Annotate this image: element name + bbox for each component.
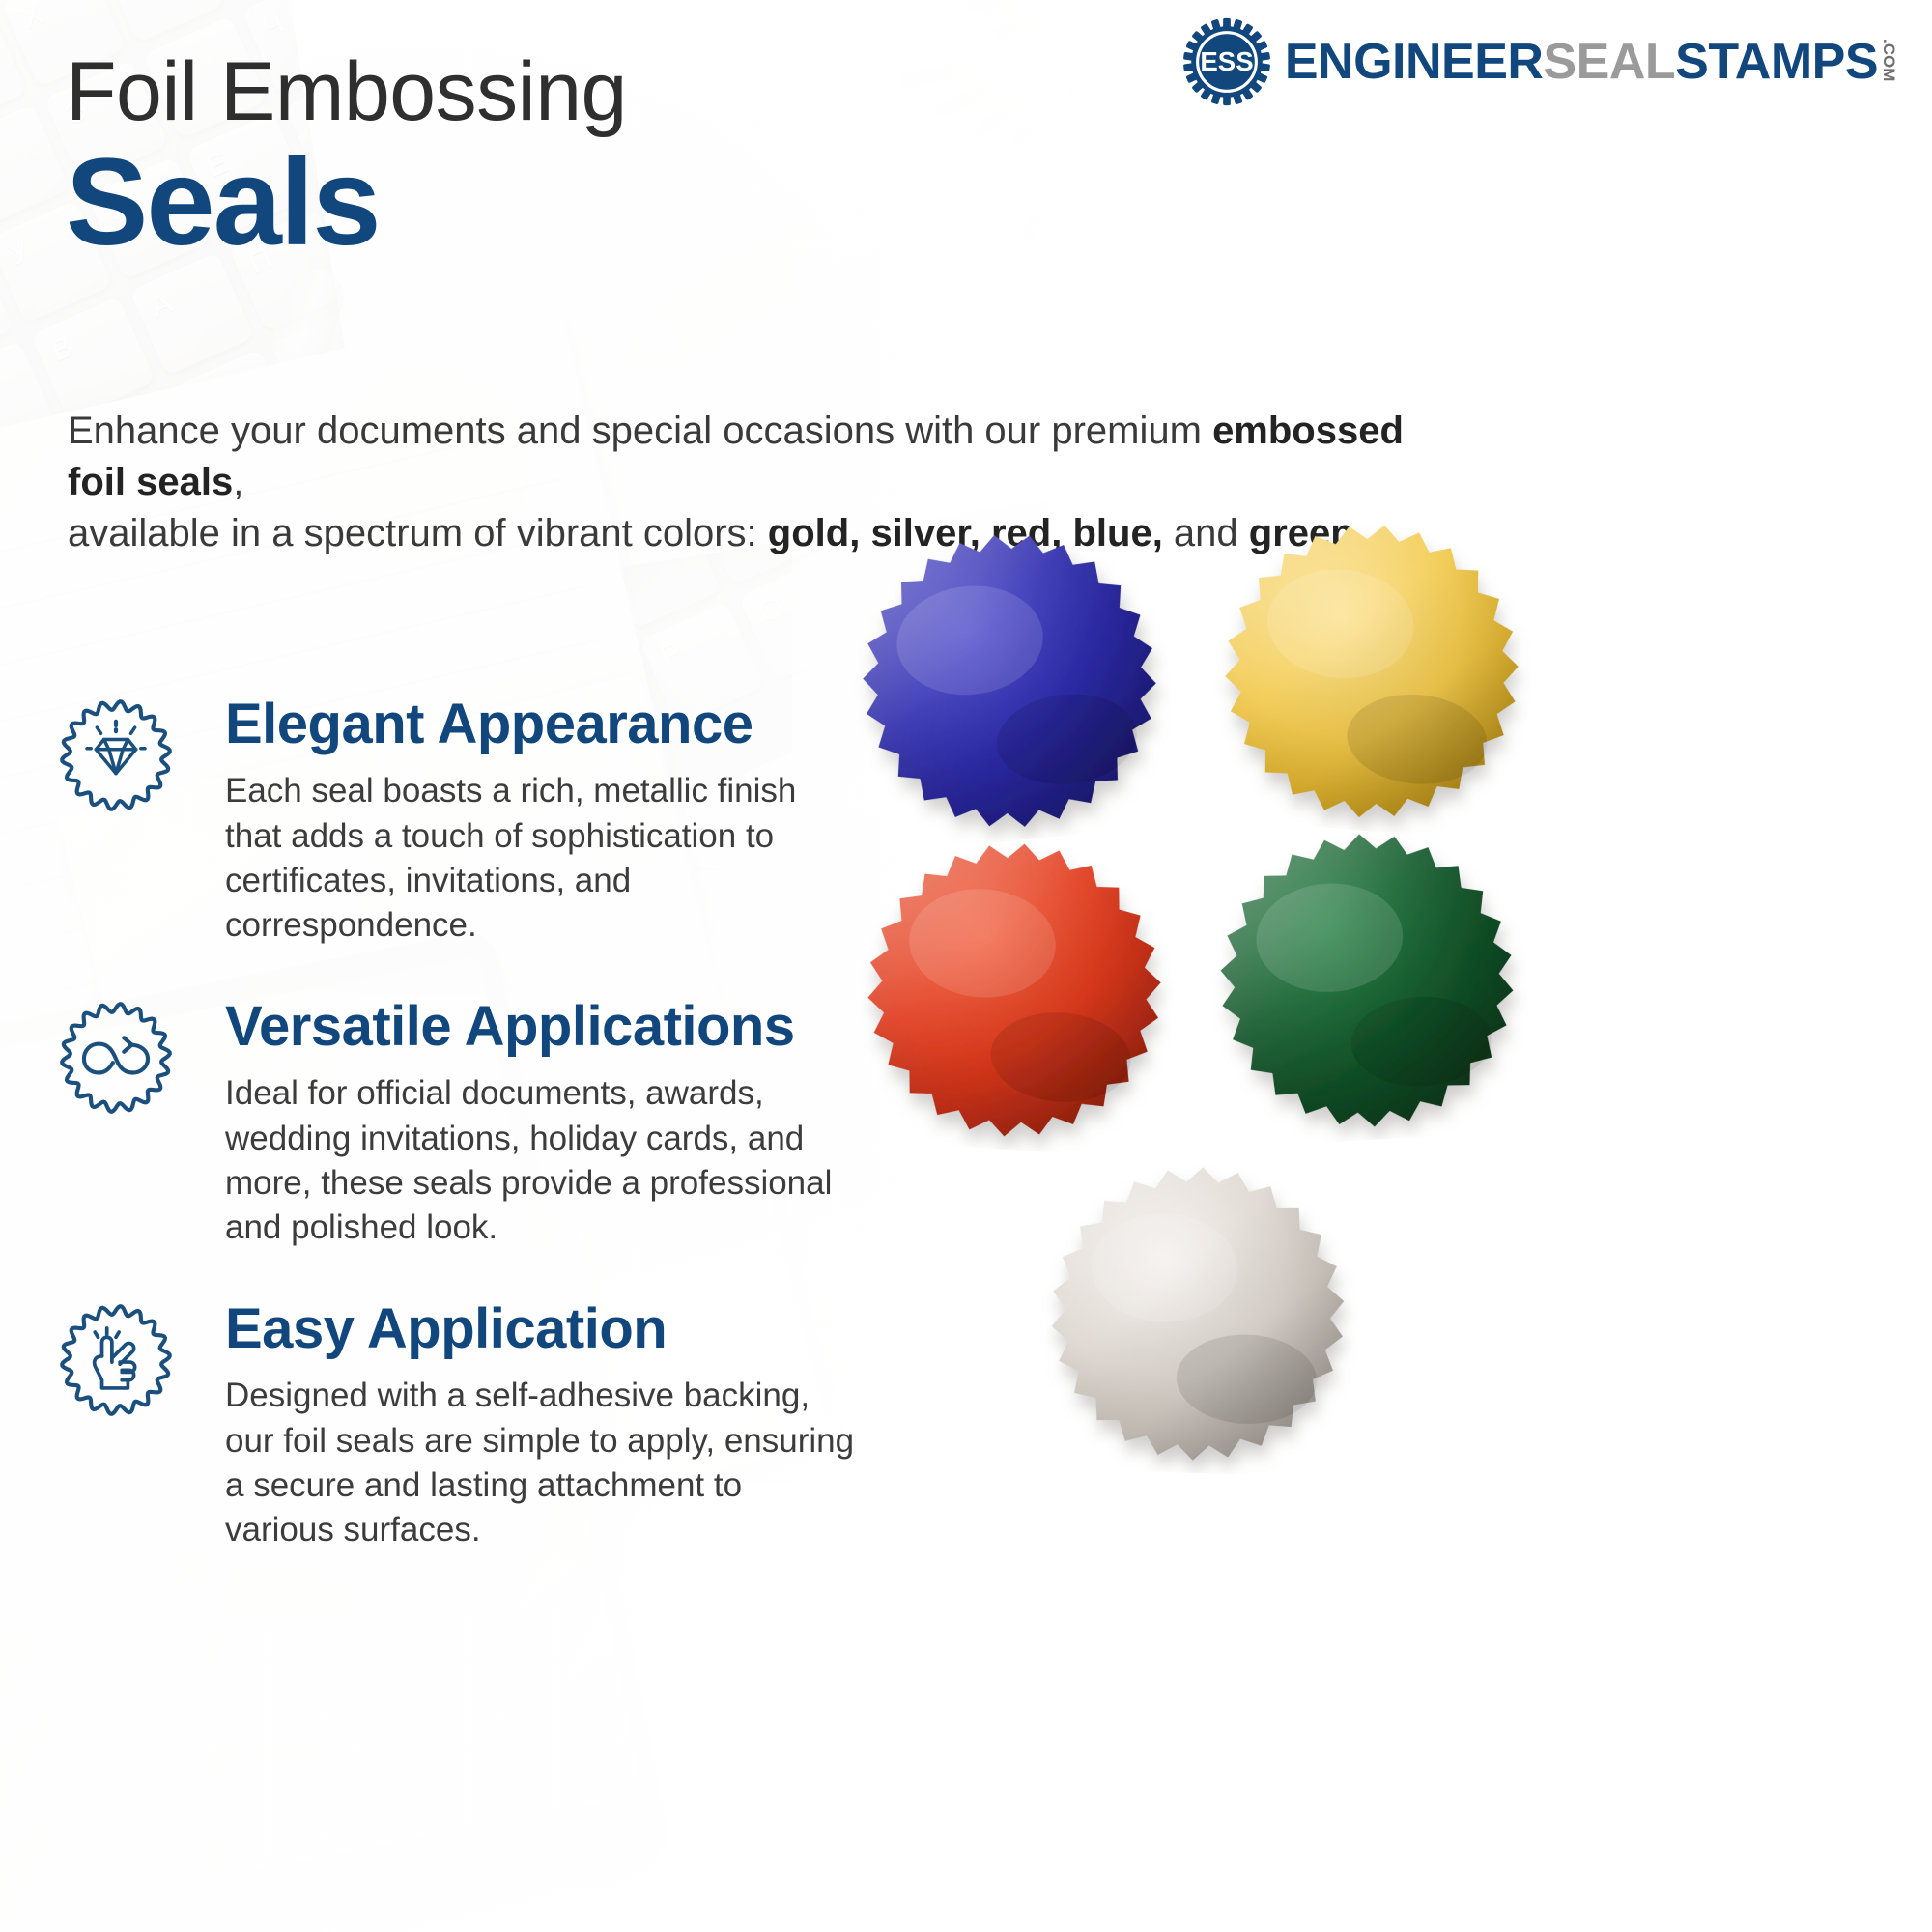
foil-seal-gallery	[850, 522, 1922, 1893]
keyboard-key	[708, 225, 833, 349]
keyboard-key	[0, 104, 71, 228]
brand-logo[interactable]: ESS ENGINEERSEALSTAMPS.COM	[1182, 17, 1897, 106]
logo-word-stamps: STAMPS	[1675, 37, 1878, 87]
page-headline: Foil Embossing Seals	[66, 50, 627, 265]
keyboard-key	[99, 0, 224, 43]
keyboard-key	[850, 277, 975, 401]
palm-leaf-blade	[933, 13, 1159, 120]
keyboard-key	[623, 33, 748, 156]
feature-item-easy-application: Easy Application Designed with a self-ad…	[56, 1300, 858, 1552]
keyboard-key	[679, 0, 804, 16]
palm-leaf-blade	[971, 14, 1160, 139]
keyboard-key	[863, 42, 987, 165]
keyboard-key	[1090, 286, 1214, 410]
ess-gear-logo-icon: ESS	[1182, 17, 1271, 106]
keyboard-key	[31, 297, 156, 420]
keyboard-key	[370, 261, 495, 384]
brand-wordmark: ENGINEERSEALSTAMPS.COM	[1285, 37, 1897, 87]
keyboard-key	[0, 480, 2, 604]
tapping-hand-icon	[56, 1300, 176, 1420]
feature-body: Elegant Appearance Each seal boasts a ri…	[225, 696, 858, 948]
red-foil-seal[interactable]	[844, 820, 1184, 1160]
feature-item-elegant-appearance: Elegant Appearance Each seal boasts a ri…	[56, 696, 858, 948]
intro-line1-a: Enhance your documents and special occas…	[68, 410, 1212, 452]
palm-leaf-blade	[967, 0, 1157, 26]
feature-text: Ideal for official documents, awards, we…	[225, 1071, 858, 1250]
infographic-canvas: ESS ENGINEERSEALSTAMPS.COM Foil Embossin…	[0, 0, 1932, 1932]
intro-line2-a: available in a spectrum of vibrant color…	[68, 512, 768, 554]
feature-item-versatile-applications: Versatile Applications Ideal for officia…	[56, 998, 858, 1250]
feature-text: Each seal boasts a rich, metallic finish…	[225, 769, 858, 948]
palm-leaf-blade	[1150, 18, 1179, 184]
page-title: Seals	[66, 141, 627, 265]
feature-body: Versatile Applications Ideal for officia…	[225, 998, 858, 1250]
keyboard-key	[906, 137, 1031, 261]
palm-leaf-blade	[1101, 17, 1164, 230]
notebook-ring	[0, 1069, 14, 1111]
keyboard-key	[0, 244, 14, 368]
palm-leaf-blade	[992, 13, 1157, 42]
keyboard-key	[919, 0, 1043, 25]
keyboard-key	[820, 0, 945, 69]
keyboard-key	[159, 585, 284, 709]
feature-list: Elegant Appearance Each seal boasts a ri…	[56, 696, 858, 1603]
logo-word-seal: SEAL	[1543, 37, 1675, 87]
keyboard-key	[0, 813, 31, 937]
keyboard-key	[1047, 189, 1172, 313]
notebook-ring	[0, 1126, 28, 1168]
notebook-ring	[0, 1241, 55, 1283]
gold-foil-seal[interactable]	[1199, 498, 1545, 844]
diamond-icon	[56, 696, 176, 815]
logo-mark-text: ESS	[1200, 46, 1253, 76]
keyboard-key	[808, 182, 932, 305]
green-foil-seal[interactable]	[1200, 813, 1535, 1149]
keyboard-key	[439, 0, 563, 8]
palm-leaf-blade	[1136, 18, 1164, 209]
headline-eyebrow: Foil Embossing	[66, 50, 627, 133]
keyboard-key	[0, 340, 57, 464]
palm-leaf-blade	[1061, 16, 1164, 244]
keyboard-key	[949, 234, 1073, 357]
keyboard-key	[722, 0, 846, 113]
keyboard-key	[498, 550, 623, 673]
intro-line1-c: ,	[233, 461, 243, 503]
palm-leaf-blade	[1045, 14, 1162, 150]
feature-text: Designed with a self-adhesive backing, o…	[225, 1374, 858, 1552]
keyboard-key	[1005, 94, 1129, 217]
palm-leaf-blade	[1009, 14, 1162, 149]
keyboard-key	[0, 8, 27, 131]
blue-foil-seal[interactable]	[835, 506, 1185, 857]
infinity-loop-icon	[56, 998, 176, 1118]
keyboard-key	[666, 129, 790, 253]
feature-title: Elegant Appearance	[225, 696, 858, 753]
feature-title: Versatile Applications	[225, 998, 858, 1056]
feature-title: Easy Application	[225, 1300, 858, 1358]
feature-body: Easy Application Designed with a self-ad…	[225, 1300, 858, 1552]
notebook-ring	[0, 1184, 42, 1226]
keyboard-key	[610, 270, 734, 393]
keyboard-key	[340, 0, 465, 52]
palm-leaf-blade	[1014, 15, 1163, 250]
notebook-ring	[0, 1012, 2, 1054]
keyboard-key	[961, 0, 1086, 121]
silver-foil-seal[interactable]	[1033, 1149, 1362, 1478]
palm-leaf-blade	[898, 13, 1158, 91]
logo-word-tld: .COM	[1881, 39, 1897, 81]
logo-word-engineer: ENGINEER	[1285, 37, 1544, 87]
notebook-spiral-rings	[0, 497, 49, 1283]
keyboard-key	[764, 85, 889, 209]
keyboard-key	[0, 577, 44, 700]
